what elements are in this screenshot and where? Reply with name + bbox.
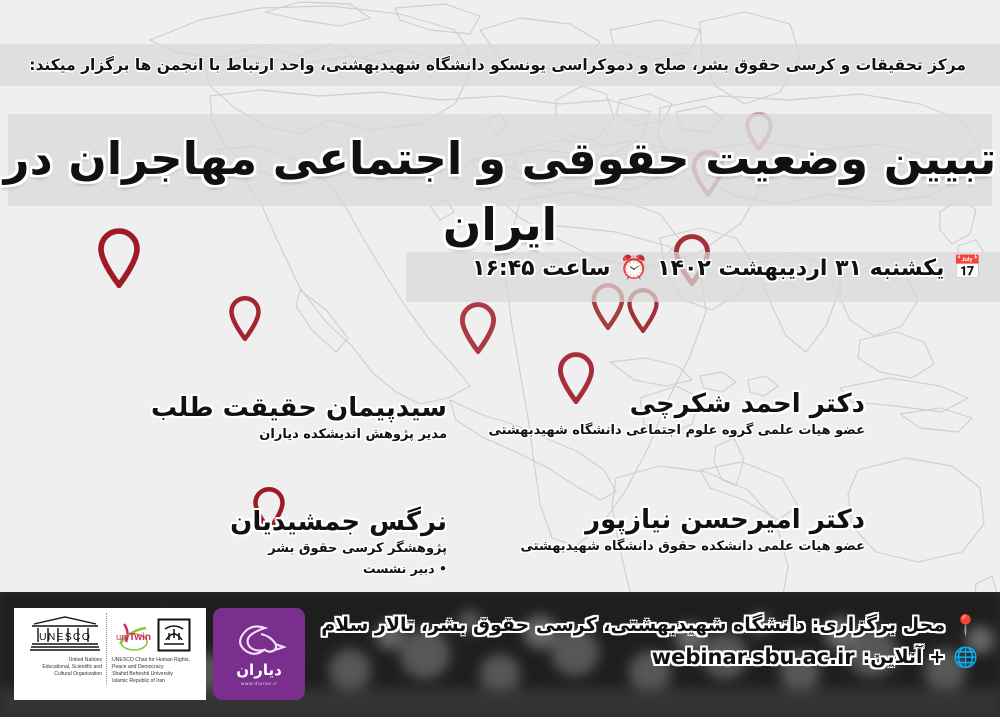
partner-logos: uni Twin UNESCO Chair for Human Rights,P… xyxy=(14,608,206,700)
svg-text:Twin: Twin xyxy=(129,632,151,643)
speaker-text: سیدپیمان حقیقت طلب مدیر پژوهش اندیشکده د… xyxy=(27,392,447,445)
shahid-beheshti-university-icon xyxy=(157,618,191,652)
location-pin-icon: 📍 xyxy=(953,615,978,635)
unitwin-icon: uni Twin xyxy=(112,618,152,652)
svg-text:uni: uni xyxy=(116,632,129,643)
footer: uni Twin UNESCO Chair for Human Rights,P… xyxy=(0,592,1000,717)
speaker-role: پژوهشگر کرسی حقوق بشر xyxy=(27,539,447,559)
online-line[interactable]: 🌐 + آنلاین: webinar.sbu.ac.ir xyxy=(321,645,978,669)
event-time: ساعت ۱۶:۴۵ xyxy=(472,256,610,281)
diaran-url: www.diaran.ir xyxy=(241,681,278,688)
unesco-logo-group: UNESCO United NationsEducational, Scient… xyxy=(20,613,102,678)
venue-line: 📍 محل برگزاری: دانشگاه شهیدبهشتی، کرسی ح… xyxy=(321,614,978,636)
unesco-chair-caption: UNESCO Chair for Human Rights,Peace and … xyxy=(112,657,200,685)
dove-icon xyxy=(231,620,287,660)
speaker-name: نرگس جمشیدیان xyxy=(27,506,447,539)
speaker-text: نرگس جمشیدیان پژوهشگر کرسی حقوق بشر • دب… xyxy=(27,506,447,578)
unesco-chair-logo-group: uni Twin UNESCO Chair for Human Rights,P… xyxy=(106,613,200,685)
online-label: + آنلاین: xyxy=(863,646,945,668)
speaker-role: مدیر پژوهش اندیشکده دیاران xyxy=(27,425,447,445)
page-title: تبیین وضعیت حقوقی و اجتماعی مهاجران در ا… xyxy=(0,126,1000,258)
speaker-note: • دبیر نشست xyxy=(27,559,447,578)
globe-icon: 🌐 xyxy=(953,647,978,667)
unesco-icon: UNESCO xyxy=(28,614,102,656)
webinar-url[interactable]: webinar.sbu.ac.ir xyxy=(652,645,855,669)
event-poster: مرکز تحقیقات و کرسی حقوق بشر، صلح و دموک… xyxy=(0,0,1000,717)
calendar-icon: 📅 xyxy=(953,257,982,280)
footer-info: 📍 محل برگزاری: دانشگاه شهیدبهشتی، کرسی ح… xyxy=(321,614,978,678)
speaker-name: سیدپیمان حقیقت طلب xyxy=(27,392,447,425)
diaran-logo: دیاران www.diaran.ir xyxy=(213,608,305,700)
organizer-line: مرکز تحقیقات و کرسی حقوق بشر، صلح و دموک… xyxy=(26,48,966,82)
event-date: یکشنبه ۳۱ اردیبهشت ۱۴۰۲ xyxy=(657,256,944,281)
unesco-caption: United NationsEducational, Scientific an… xyxy=(42,657,102,678)
diaran-name: دیاران xyxy=(236,662,282,679)
venue-text: محل برگزاری: دانشگاه شهیدبهشتی، کرسی حقو… xyxy=(321,614,945,636)
svg-text:UNESCO: UNESCO xyxy=(39,631,91,643)
datetime-row: 📅 یکشنبه ۳۱ اردیبهشت ۱۴۰۲ ⏰ ساعت ۱۶:۴۵ xyxy=(472,256,982,281)
clock-icon: ⏰ xyxy=(619,257,648,280)
